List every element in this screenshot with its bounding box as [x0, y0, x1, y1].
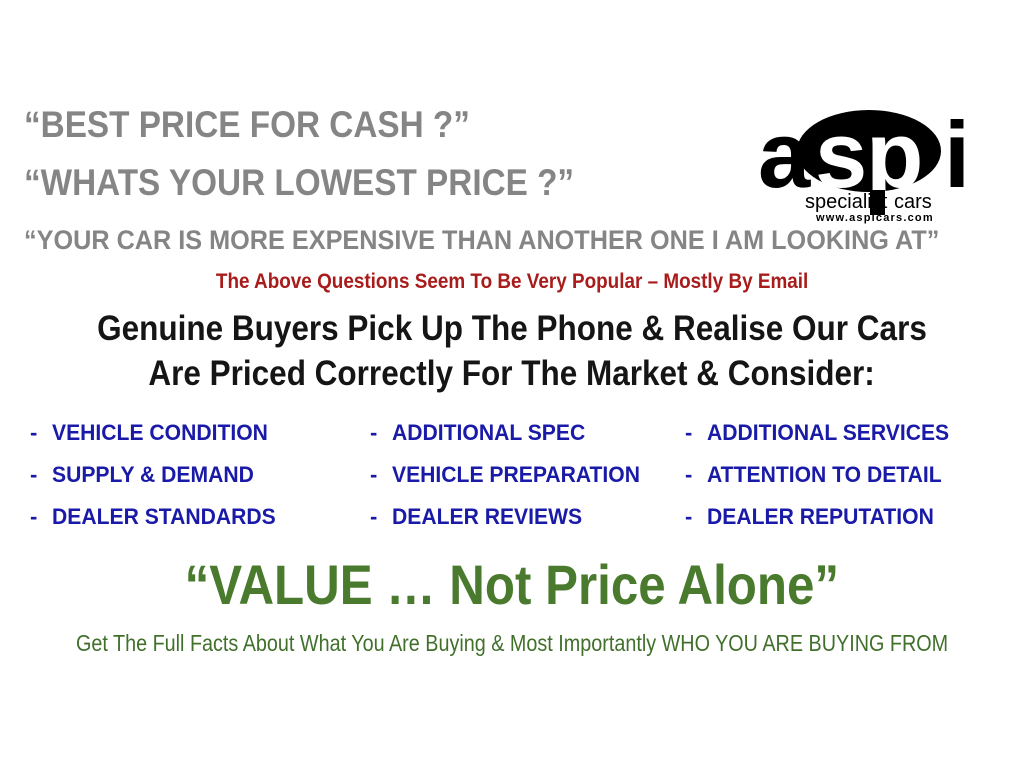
list-item: - DEALER REVIEWS — [370, 504, 685, 546]
aspi-logo-graphic: a s p i specialist cars www.aspicars.com — [752, 104, 980, 226]
headline-block: Genuine Buyers Pick Up The Phone & Reali… — [0, 306, 1024, 396]
list-item: - VEHICLE CONDITION — [30, 420, 370, 462]
list-item: - DEALER REPUTATION — [685, 504, 994, 546]
logo-letter-i: i — [944, 104, 970, 207]
list-item-label: DEALER REPUTATION — [707, 504, 934, 530]
aspi-logo: a s p i specialist cars www.aspicars.com — [752, 104, 980, 226]
list-item: - DEALER STANDARDS — [30, 504, 370, 546]
bullet-dash-icon: - — [685, 462, 707, 488]
red-subline-text: The Above Questions Seem To Be Very Popu… — [216, 270, 808, 294]
slide-canvas: “BEST PRICE FOR CASH ?” “WHATS YOUR LOWE… — [0, 0, 1024, 768]
list-item-label: ADDITIONAL SPEC — [392, 420, 585, 446]
customer-question-line-1: “BEST PRICE FOR CASH ?” — [24, 104, 470, 146]
bullet-dash-icon: - — [30, 504, 52, 530]
headline-line-2: Are Priced Correctly For The Market & Co… — [0, 351, 1024, 396]
closing-tagline: Get The Full Facts About What You Are Bu… — [0, 630, 1024, 657]
bullet-dash-icon: - — [685, 420, 707, 446]
value-statement: “VALUE … Not Price Alone” — [0, 552, 1024, 617]
logo-tagline-cars: cars — [894, 191, 932, 213]
logo-website: www.aspicars.com — [815, 212, 934, 224]
list-item-label: DEALER STANDARDS — [52, 504, 276, 530]
value-statement-text: “VALUE … Not Price Alone” — [185, 552, 839, 617]
headline-line-1-text: Genuine Buyers Pick Up The Phone & Reali… — [97, 306, 927, 351]
list-item-label: ATTENTION TO DETAIL — [707, 462, 942, 488]
list-item: - VEHICLE PREPARATION — [370, 462, 685, 504]
list-item-label: VEHICLE CONDITION — [52, 420, 268, 446]
headline-line-2-text: Are Priced Correctly For The Market & Co… — [149, 351, 875, 396]
bullet-dash-icon: - — [370, 504, 392, 530]
consideration-column-1: - VEHICLE CONDITION - SUPPLY & DEMAND - … — [30, 420, 370, 546]
list-item-label: ADDITIONAL SERVICES — [707, 420, 949, 446]
closing-tagline-text: Get The Full Facts About What You Are Bu… — [76, 630, 948, 657]
list-item-label: VEHICLE PREPARATION — [392, 462, 640, 488]
customer-question-line-2: “WHATS YOUR LOWEST PRICE ?” — [24, 162, 574, 204]
list-item: - SUPPLY & DEMAND — [30, 462, 370, 504]
list-item: - ADDITIONAL SERVICES — [685, 420, 994, 462]
bullet-dash-icon: - — [30, 420, 52, 446]
consideration-column-3: - ADDITIONAL SERVICES - ATTENTION TO DET… — [685, 420, 994, 546]
red-subline: The Above Questions Seem To Be Very Popu… — [0, 270, 1024, 294]
bullet-dash-icon: - — [685, 504, 707, 530]
consideration-column-2: - ADDITIONAL SPEC - VEHICLE PREPARATION … — [370, 420, 685, 546]
bullet-dash-icon: - — [370, 462, 392, 488]
list-item: - ADDITIONAL SPEC — [370, 420, 685, 462]
bullet-dash-icon: - — [30, 462, 52, 488]
logo-letter-a: a — [758, 104, 811, 207]
list-item-label: DEALER REVIEWS — [392, 504, 582, 530]
logo-tagline-specialist: specialist — [805, 191, 888, 213]
consideration-list: - VEHICLE CONDITION - SUPPLY & DEMAND - … — [30, 420, 994, 546]
list-item: - ATTENTION TO DETAIL — [685, 462, 994, 504]
customer-question-line-3: “YOUR CAR IS MORE EXPENSIVE THAN ANOTHER… — [24, 225, 939, 256]
headline-line-1: Genuine Buyers Pick Up The Phone & Reali… — [0, 306, 1024, 351]
bullet-dash-icon: - — [370, 420, 392, 446]
list-item-label: SUPPLY & DEMAND — [52, 462, 254, 488]
